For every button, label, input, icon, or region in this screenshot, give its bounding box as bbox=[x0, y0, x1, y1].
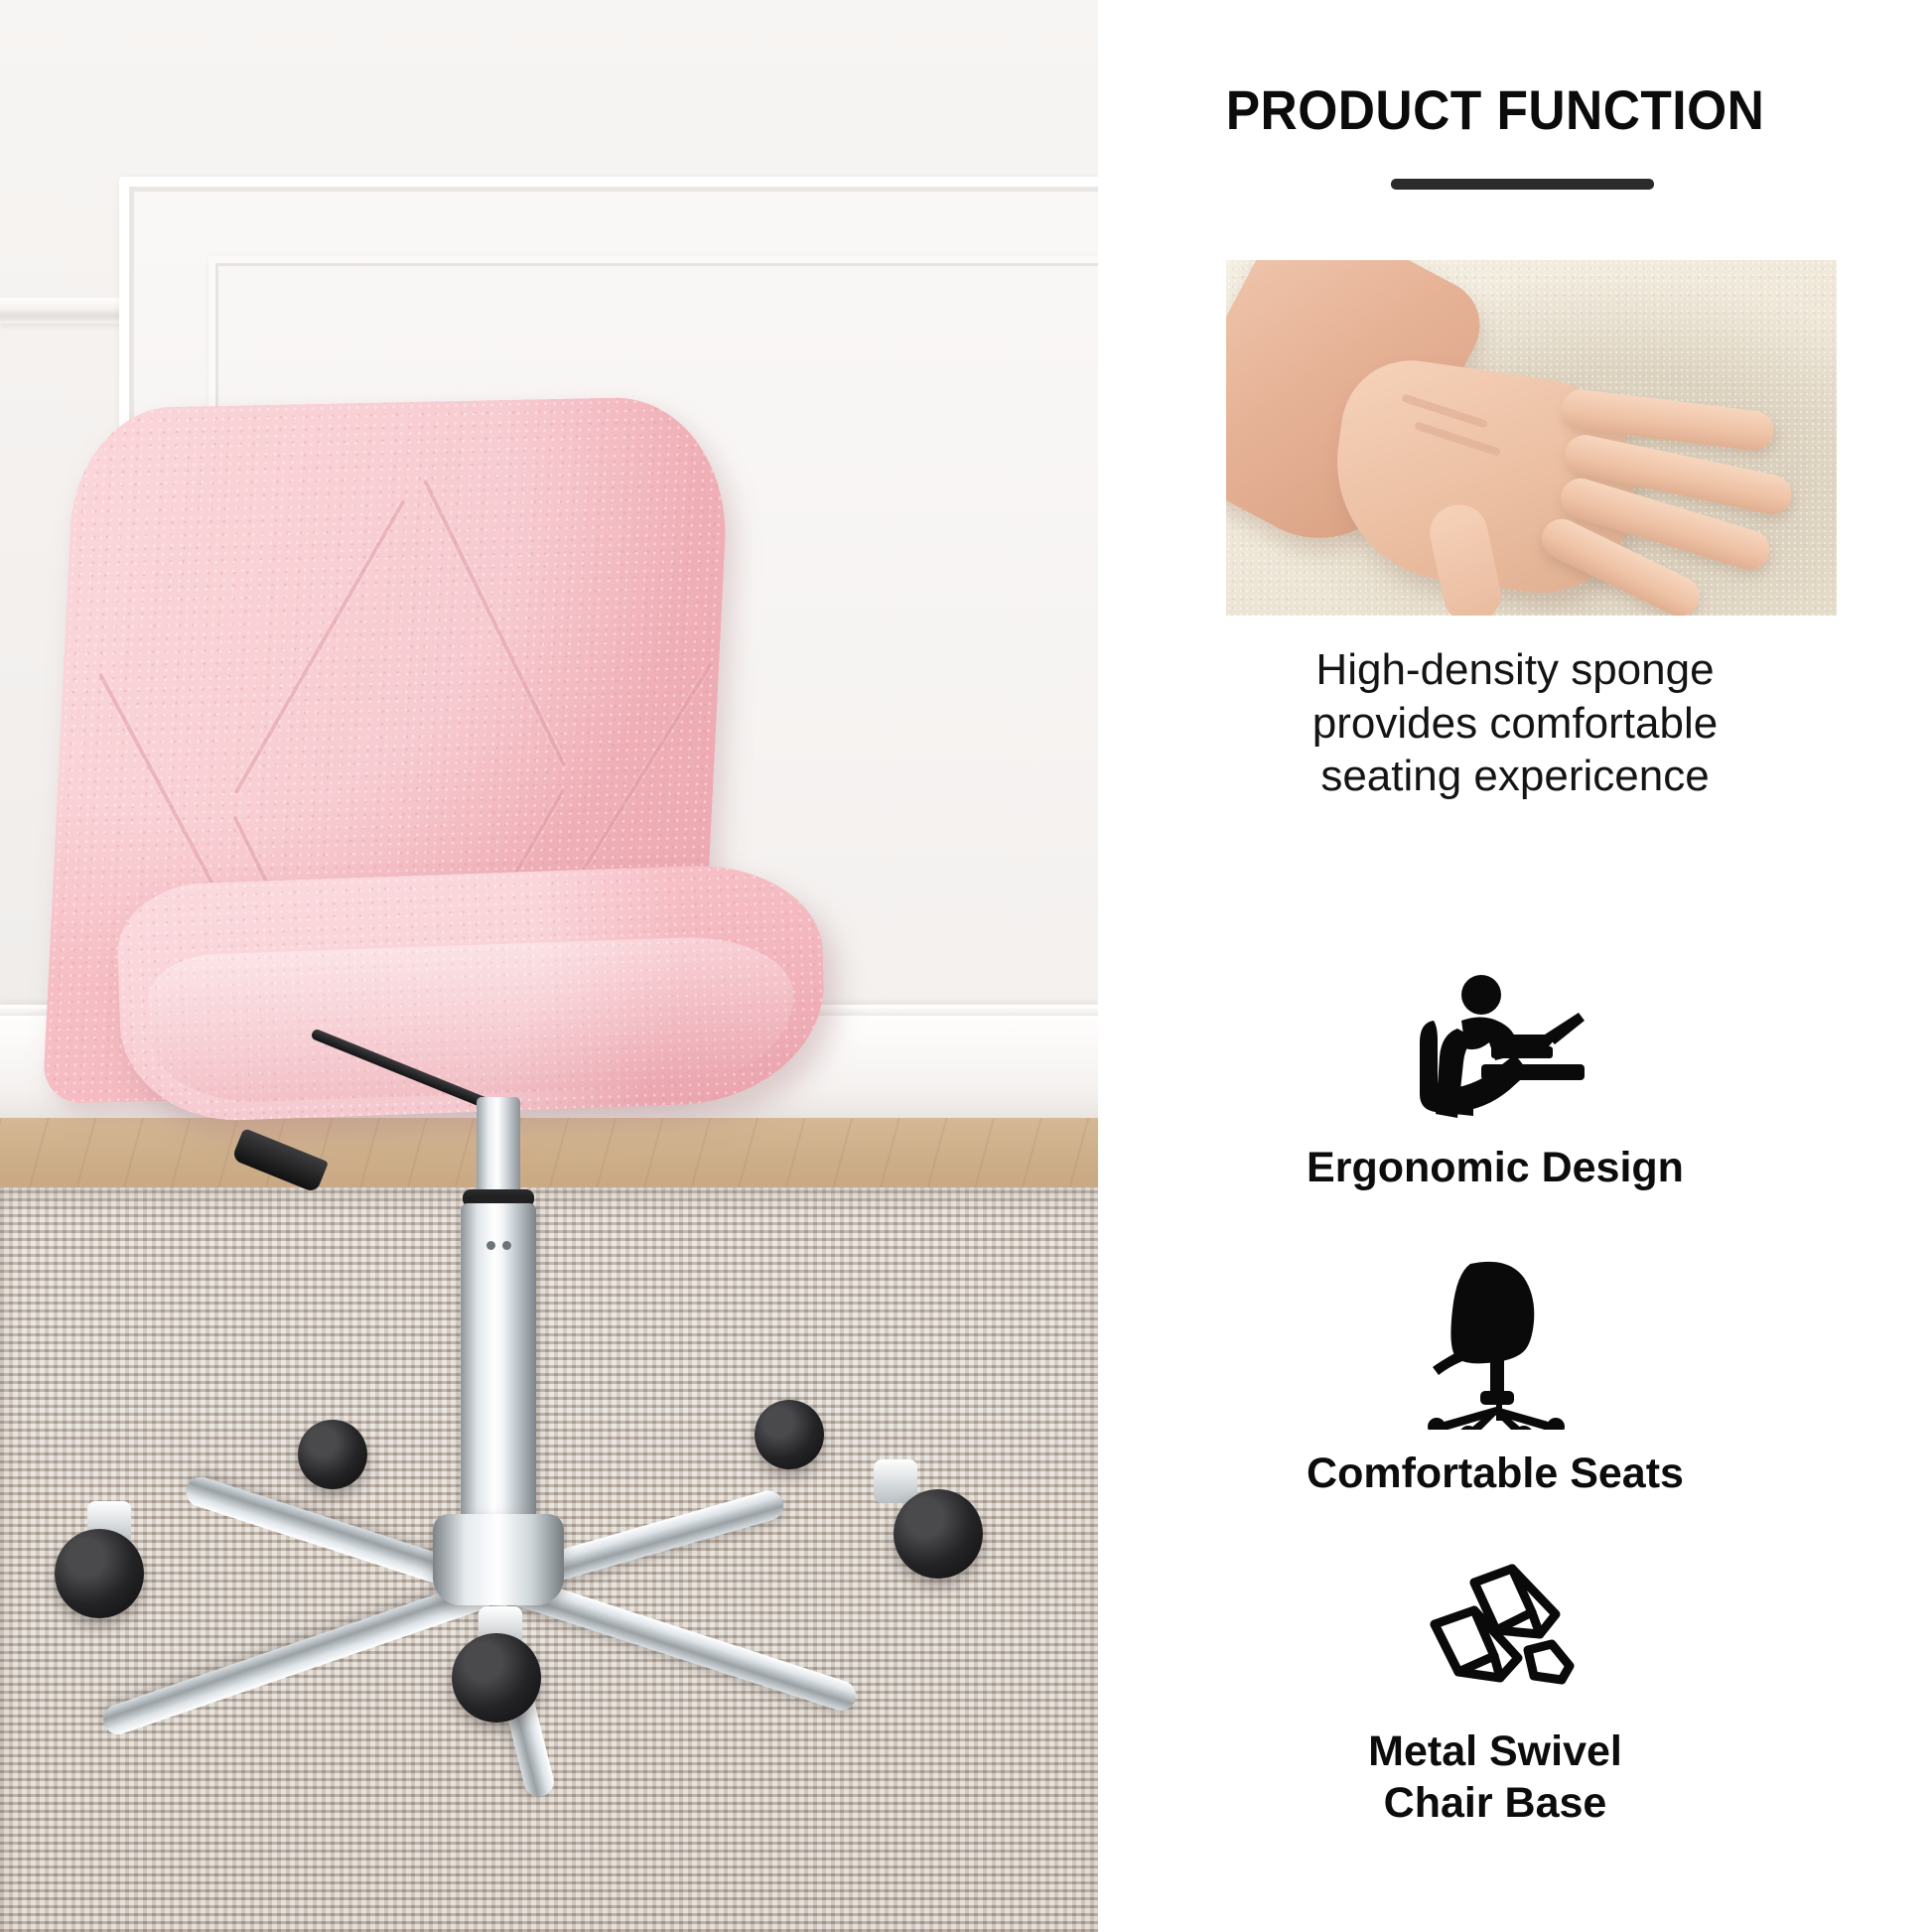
feature-bullet-label-line-2: Chair Base bbox=[1384, 1779, 1607, 1827]
chair-seat-piping bbox=[147, 934, 797, 1106]
feature-bullet-label-line-1: Metal Swivel bbox=[1368, 1727, 1622, 1775]
metal-ingots-icon bbox=[1098, 1559, 1892, 1713]
feature-caption-line-2: provides comfortable bbox=[1138, 697, 1892, 751]
swivel-chair bbox=[0, 0, 1098, 1932]
height-adjust-lever-handle bbox=[231, 1128, 329, 1193]
product-photo bbox=[0, 0, 1098, 1932]
caster-wheel bbox=[55, 1529, 144, 1618]
feature-caption-line-1: High-density sponge bbox=[1138, 643, 1892, 697]
feature-bullet-label: Ergonomic Design bbox=[1098, 1143, 1892, 1194]
page-title: PRODUCT FUNCTION bbox=[1130, 77, 1861, 142]
caster-wheel bbox=[298, 1420, 367, 1489]
caster-stem bbox=[874, 1459, 917, 1503]
caster-wheel bbox=[452, 1633, 541, 1723]
gas-lift-cylinder bbox=[461, 1203, 536, 1531]
caster-wheel bbox=[894, 1489, 983, 1579]
info-panel: PRODUCT FUNCTION High-density sponge pro… bbox=[1098, 0, 1932, 1932]
person-at-desk-icon bbox=[1098, 973, 1892, 1129]
office-chair-icon bbox=[1098, 1256, 1892, 1435]
feature-bullet-comfortable-seats: Comfortable Seats bbox=[1098, 1256, 1892, 1500]
caster-wheel bbox=[755, 1400, 824, 1469]
base-hub bbox=[433, 1514, 564, 1605]
title-underline-rule bbox=[1391, 179, 1654, 190]
gas-lift-piston bbox=[477, 1097, 520, 1196]
hand-pressing-foam-photo bbox=[1226, 260, 1837, 616]
feature-bullet-label: Comfortable Seats bbox=[1098, 1449, 1892, 1500]
feature-bullet-ergonomic-design: Ergonomic Design bbox=[1098, 973, 1892, 1194]
feature-caption-line-3: seating expericence bbox=[1138, 750, 1892, 803]
feature-caption: High-density sponge provides comfortable… bbox=[1138, 643, 1892, 803]
feature-bullet-label: Metal Swivel Chair Base bbox=[1098, 1726, 1892, 1829]
feature-bullet-list: Ergonomic Design bbox=[1098, 973, 1892, 1829]
product-infographic: PRODUCT FUNCTION High-density sponge pro… bbox=[0, 0, 1932, 1932]
feature-bullet-metal-swivel-base: Metal Swivel Chair Base bbox=[1098, 1559, 1892, 1829]
